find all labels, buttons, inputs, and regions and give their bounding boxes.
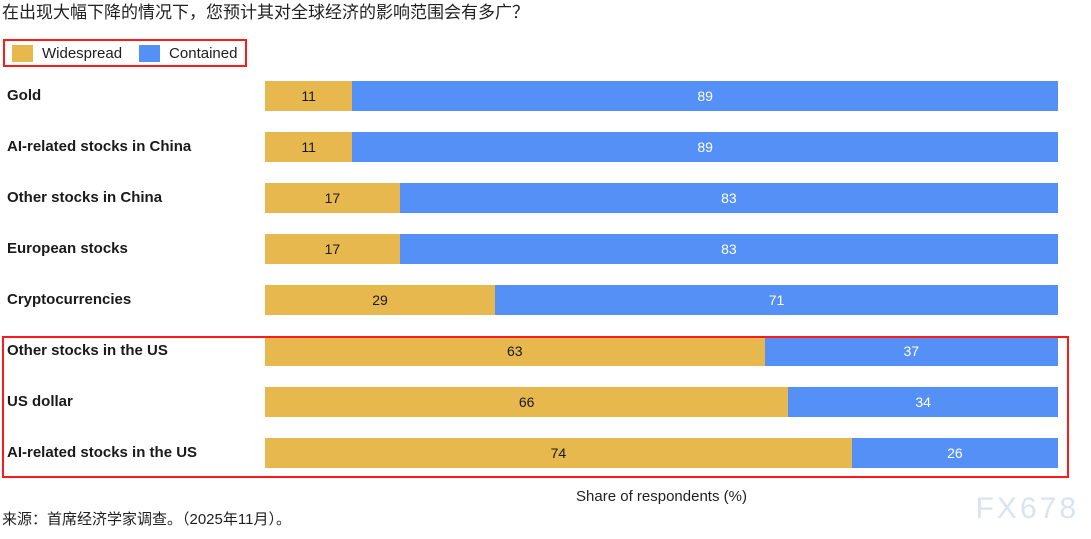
stacked-bar: 17 83 bbox=[265, 183, 1058, 213]
bar-segment-widespread[interactable]: 29 bbox=[265, 285, 495, 315]
table-row: Gold 11 89 bbox=[0, 81, 1091, 111]
table-row: Cryptocurrencies 29 71 bbox=[0, 285, 1091, 315]
bar-segment-contained[interactable]: 34 bbox=[788, 387, 1058, 417]
table-row: European stocks 17 83 bbox=[0, 234, 1091, 264]
category-label: US dollar bbox=[7, 387, 73, 417]
stacked-bar: 66 34 bbox=[265, 387, 1058, 417]
bar-segment-contained[interactable]: 89 bbox=[352, 81, 1058, 111]
legend-label-widespread: Widespread bbox=[42, 45, 122, 62]
stacked-bar: 63 37 bbox=[265, 336, 1058, 366]
x-axis-label: Share of respondents (%) bbox=[265, 488, 1058, 505]
bar-segment-contained[interactable]: 83 bbox=[400, 183, 1058, 213]
page-title: 在出现大幅下降的情况下，您预计其对全球经济的影响范围会有多广？ bbox=[2, 2, 1082, 24]
category-label: Other stocks in the US bbox=[7, 336, 168, 366]
chart-plot-area: Gold 11 89 AI-related stocks in China 11… bbox=[0, 73, 1091, 485]
bar-segment-widespread[interactable]: 66 bbox=[265, 387, 788, 417]
square-swatch-icon bbox=[12, 45, 33, 62]
bar-segment-contained[interactable]: 37 bbox=[765, 336, 1058, 366]
category-label: Cryptocurrencies bbox=[7, 285, 131, 315]
stacked-bar: 11 89 bbox=[265, 81, 1058, 111]
stacked-bar: 74 26 bbox=[265, 438, 1058, 468]
bar-segment-widespread[interactable]: 17 bbox=[265, 234, 400, 264]
stacked-bar: 17 83 bbox=[265, 234, 1058, 264]
bar-segment-widespread[interactable]: 11 bbox=[265, 132, 352, 162]
bar-segment-widespread[interactable]: 11 bbox=[265, 81, 352, 111]
table-row: AI-related stocks in the US 74 26 bbox=[0, 438, 1091, 468]
bar-segment-contained[interactable]: 89 bbox=[352, 132, 1058, 162]
table-row: AI-related stocks in China 11 89 bbox=[0, 132, 1091, 162]
legend-label-contained: Contained bbox=[169, 45, 237, 62]
table-row: US dollar 66 34 bbox=[0, 387, 1091, 417]
bar-segment-contained[interactable]: 71 bbox=[495, 285, 1058, 315]
stacked-bar: 11 89 bbox=[265, 132, 1058, 162]
category-label: AI-related stocks in China bbox=[7, 132, 191, 162]
bar-segment-widespread[interactable]: 74 bbox=[265, 438, 852, 468]
bar-segment-contained[interactable]: 26 bbox=[852, 438, 1058, 468]
legend-item-contained[interactable]: Contained bbox=[139, 45, 237, 62]
bar-segment-widespread[interactable]: 63 bbox=[265, 336, 765, 366]
square-swatch-icon bbox=[139, 45, 160, 62]
category-label: Other stocks in China bbox=[7, 183, 162, 213]
source-note: 来源：首席经济学家调查。（2025年11月）。 bbox=[2, 508, 291, 529]
bar-segment-widespread[interactable]: 17 bbox=[265, 183, 400, 213]
bar-segment-contained[interactable]: 83 bbox=[400, 234, 1058, 264]
legend-item-widespread[interactable]: Widespread bbox=[12, 45, 122, 62]
stacked-bar: 29 71 bbox=[265, 285, 1058, 315]
table-row: Other stocks in the US 63 37 bbox=[0, 336, 1091, 366]
watermark: FX678 bbox=[976, 492, 1079, 526]
category-label: Gold bbox=[7, 81, 41, 111]
chart-legend: Widespread Contained bbox=[3, 39, 247, 67]
category-label: AI-related stocks in the US bbox=[7, 438, 197, 468]
table-row: Other stocks in China 17 83 bbox=[0, 183, 1091, 213]
category-label: European stocks bbox=[7, 234, 128, 264]
